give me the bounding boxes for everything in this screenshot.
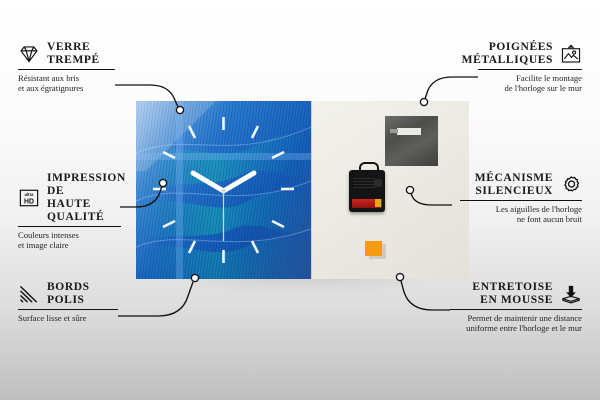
feature-rule — [450, 309, 582, 310]
clock-front-panel — [136, 101, 311, 279]
svg-text:HD: HD — [24, 199, 34, 206]
feature-header: POIGNÉES MÉTALLIQUES — [478, 41, 582, 67]
feature-description: Les aiguilles de l'horloge ne font aucun… — [460, 204, 582, 225]
feature-poignees-metalliques: POIGNÉES MÉTALLIQUES Facilite le montage… — [478, 41, 582, 93]
feature-header: BORDS POLIS — [18, 281, 128, 307]
ultra-hd-icon: ultra HD — [18, 188, 40, 208]
feature-title: BORDS POLIS — [47, 281, 90, 307]
clock-back-panel — [311, 101, 469, 279]
feature-header: ENTRETOISE EN MOUSSE — [450, 281, 582, 307]
feature-rule — [478, 69, 582, 70]
clock-mechanism — [349, 170, 385, 212]
product-photo — [136, 101, 468, 279]
feature-title: VERRE TREMPÉ — [47, 41, 100, 67]
gear-icon — [560, 175, 582, 195]
foam-spacer — [365, 241, 382, 256]
feature-rule — [18, 69, 115, 70]
diamond-icon — [18, 44, 40, 64]
feature-verre-trempe: VERRE TREMPÉ Résistant aux bris et aux é… — [18, 41, 118, 93]
hanger-slot-secondary — [390, 129, 398, 133]
battery-plus-terminal — [375, 199, 381, 207]
clock-face — [136, 101, 311, 279]
polished-edges-icon — [18, 284, 40, 304]
feature-description: Facilite le montage de l'horloge sur le … — [478, 73, 582, 94]
feature-title: IMPRESSION DE HAUTE QUALITÉ — [47, 172, 128, 224]
feature-rule — [18, 226, 121, 227]
feature-rule — [18, 309, 118, 310]
feature-impression-haute-qualite: ultra HD IMPRESSION DE HAUTE QUALITÉ Cou… — [18, 172, 128, 250]
mechanism-dial — [374, 179, 382, 187]
clock-hands — [193, 173, 254, 241]
feature-mecanisme-silencieux: MÉCANISME SILENCIEUX Les aiguilles de l'… — [460, 172, 582, 224]
feature-rule — [460, 200, 582, 201]
feature-description: Surface lisse et sûre — [18, 313, 128, 323]
feature-bords-polis: BORDS POLIS Surface lisse et sûre — [18, 281, 128, 323]
hanger-slot — [397, 128, 421, 135]
feature-entretoise-en-mousse: ENTRETOISE EN MOUSSE Permet de maintenir… — [450, 281, 582, 333]
feature-title: MÉCANISME SILENCIEUX — [460, 172, 553, 198]
svg-text:ultra: ultra — [24, 192, 34, 197]
feature-description: Permet de maintenir une distance uniform… — [450, 313, 582, 334]
framed-picture-icon — [560, 44, 582, 64]
mechanism-hook — [359, 162, 379, 174]
battery — [352, 199, 382, 208]
feature-description: Couleurs intenses et image claire — [18, 230, 128, 251]
feature-header: ultra HD IMPRESSION DE HAUTE QUALITÉ — [18, 172, 128, 224]
hanger-plate — [385, 116, 438, 166]
feature-header: MÉCANISME SILENCIEUX — [460, 172, 582, 198]
feature-header: VERRE TREMPÉ — [18, 41, 118, 67]
feature-title: POIGNÉES MÉTALLIQUES — [462, 41, 553, 67]
feature-description: Résistant aux bris et aux égratignures — [18, 73, 118, 94]
feature-title: ENTRETOISE EN MOUSSE — [450, 281, 553, 307]
infographic-canvas: VERRE TREMPÉ Résistant aux bris et aux é… — [0, 0, 600, 400]
foam-spacer-icon — [560, 284, 582, 304]
mechanism-label — [353, 178, 375, 190]
